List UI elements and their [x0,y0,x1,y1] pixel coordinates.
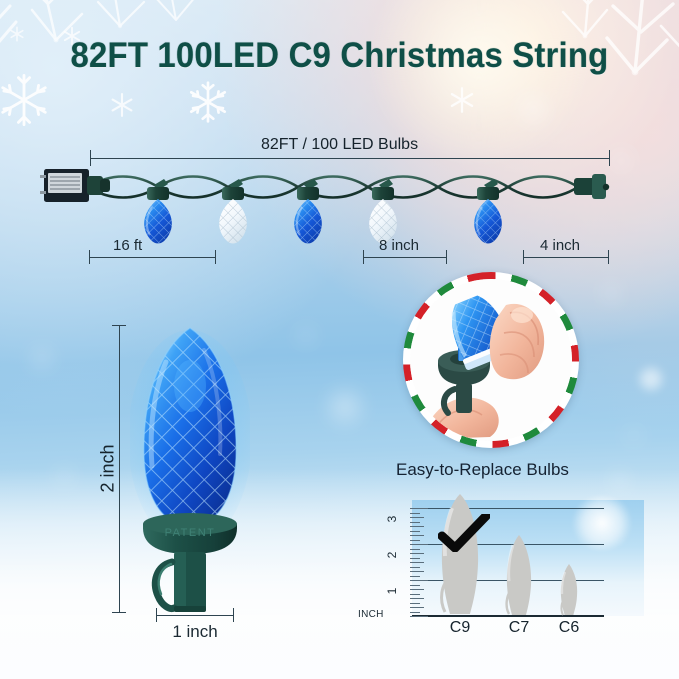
bokeh-dot [34,350,50,366]
string-bulb [219,179,247,244]
bokeh-dot [330,392,360,422]
ruler-tick-3: 3 [385,513,399,525]
bulb-silhouette-c7 [502,533,536,616]
infographic-canvas: 82FT 100LED C9 Christmas String 82FT / 1… [0,0,679,679]
selected-checkmark-icon [438,514,490,552]
inch-unit-label: INCH [358,609,384,620]
snowflake-icon [186,80,230,124]
bokeh-dot [604,286,618,300]
c9-bulb-illustration: PATENT [130,320,250,620]
lead-length-measure [89,250,216,264]
string-bulb [144,179,172,244]
string-bulb [474,179,502,244]
bokeh-dot [628,430,639,441]
bulb-silhouette-c6 [557,562,581,616]
bulb-width-measure [156,608,234,622]
string-bulb [294,179,322,244]
bulb-size-comparison-chart: 3 2 1 INCH C9 C7 C6 [360,500,660,640]
bulb-height-label: 2 inch [98,434,119,504]
page-title: 82FT 100LED C9 Christmas String [20,36,658,76]
bokeh-dot [640,368,662,390]
bokeh-dot [300,330,312,342]
easy-replace-caption: Easy-to-Replace Bulbs [396,460,569,480]
end-connector-icon [574,174,609,199]
snowflake-icon [448,86,476,114]
chart-label-c6: C6 [550,619,588,637]
snowflake-icon [109,92,135,118]
end-gap-measure [523,250,609,264]
snowflake-icon [0,72,52,128]
photo-inner [410,279,572,441]
bokeh-dot [520,96,546,122]
chart-label-c7: C7 [500,619,538,637]
ruler-tick-2: 2 [385,549,399,561]
sun-glow [570,496,634,550]
chart-label-c9: C9 [440,619,480,637]
bulb-spacing-measure [363,250,447,264]
bulb-width-label: 1 inch [156,622,234,642]
ruler-tick-1: 1 [385,585,399,597]
inch-ruler [410,508,428,616]
easy-replace-photo [403,272,579,448]
plug-icon [40,169,110,202]
bulb-silhouette-c9 [436,492,484,616]
patent-embossed-text: PATENT [165,527,216,539]
string-bulb [369,179,397,244]
